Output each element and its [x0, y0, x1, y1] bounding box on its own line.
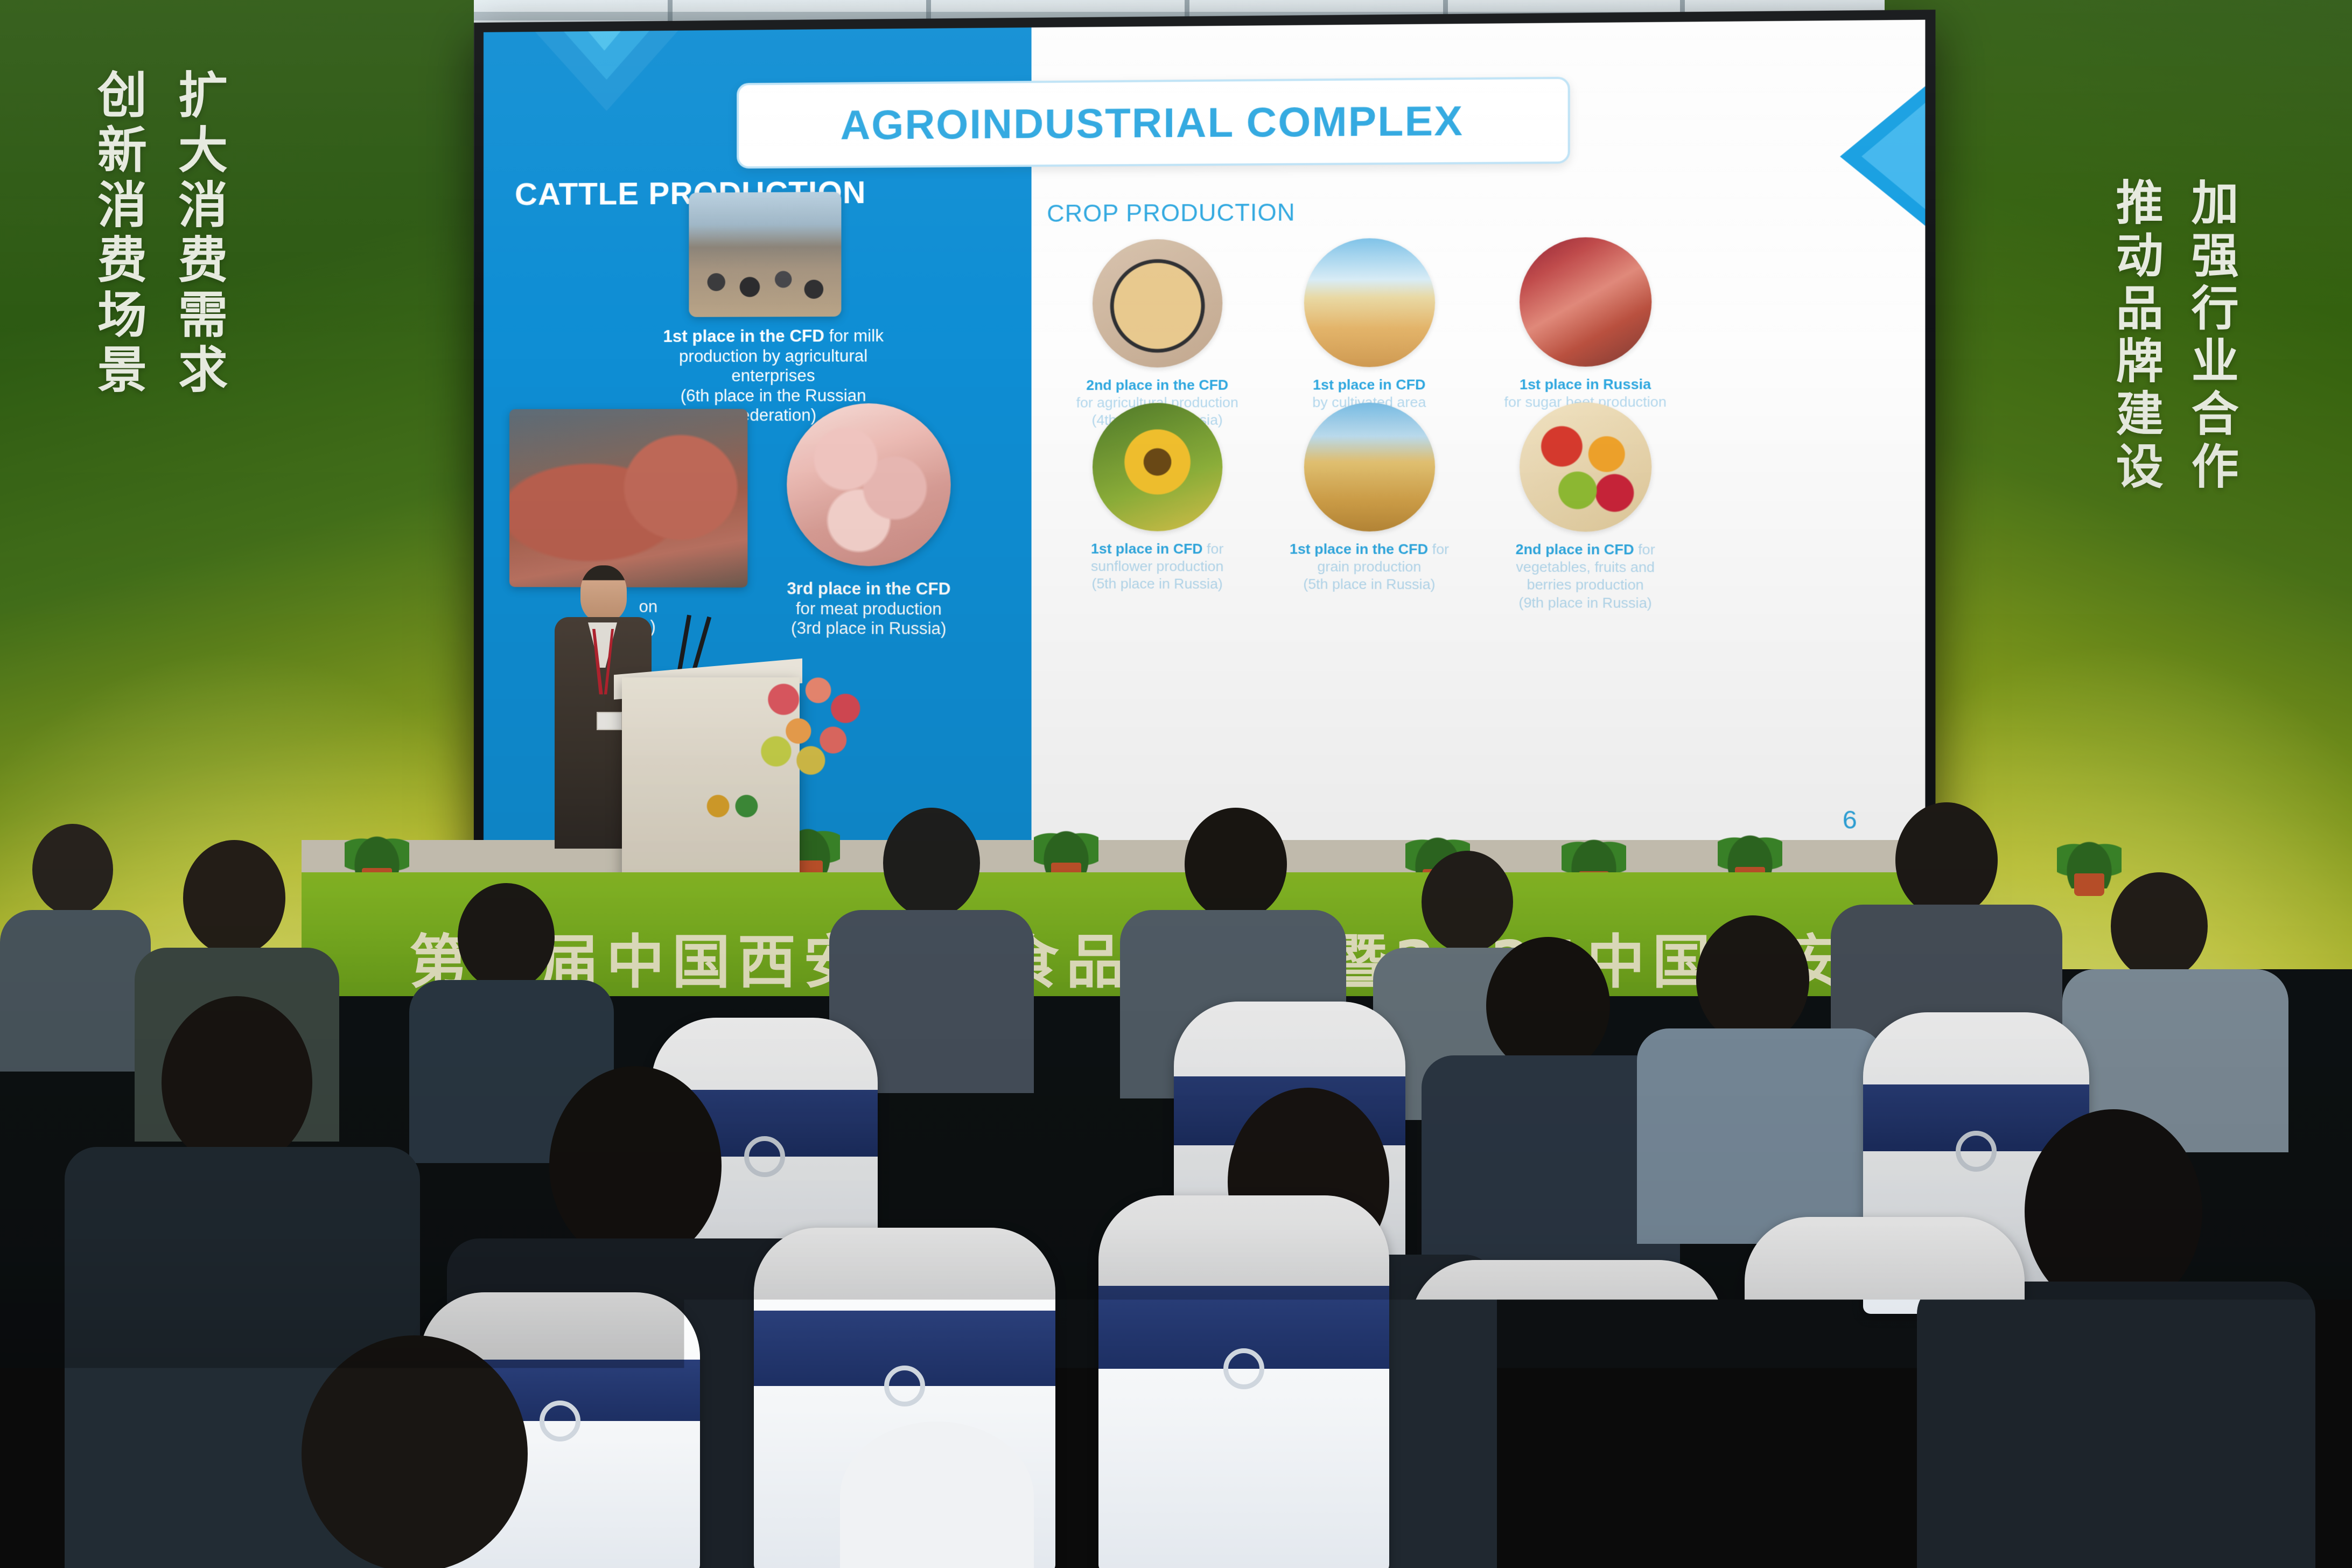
slide-title: AGROINDUSTRIAL COMPLEX: [841, 97, 1464, 149]
banquet-chair: [1098, 1195, 1389, 1568]
grainprod-caption-rest: for: [1428, 541, 1449, 557]
fruits-vegetables-icon: [1520, 402, 1651, 531]
milk-caption-bold: 1st place in the CFD: [663, 326, 824, 346]
audience-head: [549, 1066, 722, 1265]
left-banner-line-2: 扩大消费需求: [172, 69, 225, 398]
meat-caption-bold: 3rd place in the CFD: [787, 579, 950, 598]
wheat-field-icon: [1304, 238, 1434, 367]
chair-sash-knot: [1223, 1348, 1264, 1389]
audience-head: [302, 1335, 528, 1568]
podium-logo: [700, 792, 765, 821]
photo-scene: 创新消费场景 扩大消费需求 推动品牌建设 加强行业合作 CATTLE PRODU…: [0, 0, 2352, 1568]
fruits-caption-bold: 2nd place in CFD: [1515, 541, 1634, 558]
crop-item-fruits-vegetables: 2nd place in CFD for vegetables, fruits …: [1493, 402, 1678, 612]
bull-photo: [509, 409, 747, 587]
audience-head: [1486, 937, 1610, 1074]
crop-item-sunflower: 1st place in CFD for sunflower productio…: [1066, 403, 1249, 593]
fruits-caption-line4: (9th place in Russia): [1518, 594, 1651, 611]
audience-head: [32, 824, 113, 915]
chevron-decoration-inner: [554, 20, 655, 51]
audience-head: [183, 840, 285, 956]
speaker-head: [580, 565, 627, 621]
pork-meat-photo: [787, 403, 950, 566]
milk-caption-rest: for milk: [824, 326, 884, 346]
sunflower-caption: 1st place in CFD for sunflower productio…: [1066, 540, 1249, 593]
wheat-ears-icon: [1304, 403, 1434, 531]
sugarbeet-caption-bold: 1st place in Russia: [1520, 376, 1651, 393]
blue-arrow-decoration-inner: [1861, 103, 1925, 209]
plant-pot: [2074, 873, 2104, 896]
meat-caption-line3: (3rd place in Russia): [791, 619, 947, 638]
audience-torso: [1637, 1028, 1885, 1244]
sunflower-caption-rest: for: [1203, 541, 1224, 557]
chair-sash-knot: [1956, 1131, 1997, 1172]
crop-item-cultivated-area: 1st place in CFD by cultivated area: [1277, 238, 1461, 411]
audience-head: [840, 1422, 1034, 1568]
grain-bowl-icon: [1093, 239, 1222, 368]
crop-item-grain-production: 1st place in the CFD for grain productio…: [1277, 403, 1461, 594]
grainprod-caption-line3: (5th place in Russia): [1303, 576, 1435, 593]
chair-sash-knot: [540, 1401, 580, 1441]
meat-production-caption: 3rd place in the CFD for meat production…: [776, 579, 962, 639]
grain-production-caption: 1st place in the CFD for grain productio…: [1277, 540, 1461, 593]
grainprod-caption-line2: grain production: [1317, 558, 1421, 575]
chair-sash-knot: [884, 1366, 925, 1406]
audience-head: [1422, 851, 1513, 953]
flower-arrangement: [754, 668, 878, 781]
milk-caption-line2: production by agricultural enterprises: [679, 346, 867, 386]
fruits-vegetables-caption: 2nd place in CFD for vegetables, fruits …: [1493, 541, 1678, 612]
grainprod-caption-bold: 1st place in the CFD: [1290, 541, 1428, 557]
fruits-caption-line3: berries production: [1527, 577, 1643, 593]
audience-head: [883, 808, 980, 918]
crop-production-heading: CROP PRODUCTION: [1047, 199, 1295, 228]
crop-item-grain: 2nd place in the CFD for agricultural pr…: [1066, 239, 1249, 429]
slide-title-pill: AGROINDUSTRIAL COMPLEX: [737, 76, 1570, 169]
dairy-cows-photo: [689, 192, 841, 317]
audience-head: [458, 883, 555, 991]
sunflower-caption-line3: (5th place in Russia): [1092, 576, 1223, 592]
crop-item-sugar-beet: 1st place in Russia for sugar beet produ…: [1493, 237, 1678, 411]
sunflower-icon: [1093, 403, 1222, 531]
audience-torso: [0, 910, 151, 1072]
sunflower-caption-bold: 1st place in CFD: [1091, 541, 1203, 557]
banquet-chair: [1745, 1217, 2025, 1568]
left-banner-line-1: 创新消费场景: [92, 69, 144, 398]
sunflower-caption-line2: sunflower production: [1091, 558, 1223, 575]
chair-sash-knot: [744, 1136, 785, 1177]
grain-caption-bold: 2nd place in the CFD: [1086, 376, 1228, 393]
chair-sash-knot: [1864, 1360, 1905, 1401]
right-banner-line-2: 加强行业合作: [2186, 178, 2236, 494]
chair-sash-knot: [1546, 1383, 1587, 1424]
slide-page-number: 6: [1843, 804, 1857, 835]
speaker-badge: [597, 712, 622, 730]
fruits-caption-rest: for: [1634, 541, 1655, 558]
fruits-caption-line2: vegetables, fruits and: [1516, 559, 1655, 576]
audience-head: [1895, 802, 1998, 918]
meat-caption-line2: for meat production: [796, 599, 942, 618]
audience-head: [162, 996, 312, 1168]
banquet-chair: [1411, 1260, 1723, 1568]
audience-head: [1696, 915, 1809, 1045]
audience-head: [2111, 872, 2208, 980]
sugar-beet-icon: [1520, 237, 1651, 367]
audience-head: [1185, 808, 1287, 921]
cultivated-caption-bold: 1st place in CFD: [1313, 376, 1425, 393]
right-banner-line-1: 推动品牌建设: [2111, 178, 2161, 494]
